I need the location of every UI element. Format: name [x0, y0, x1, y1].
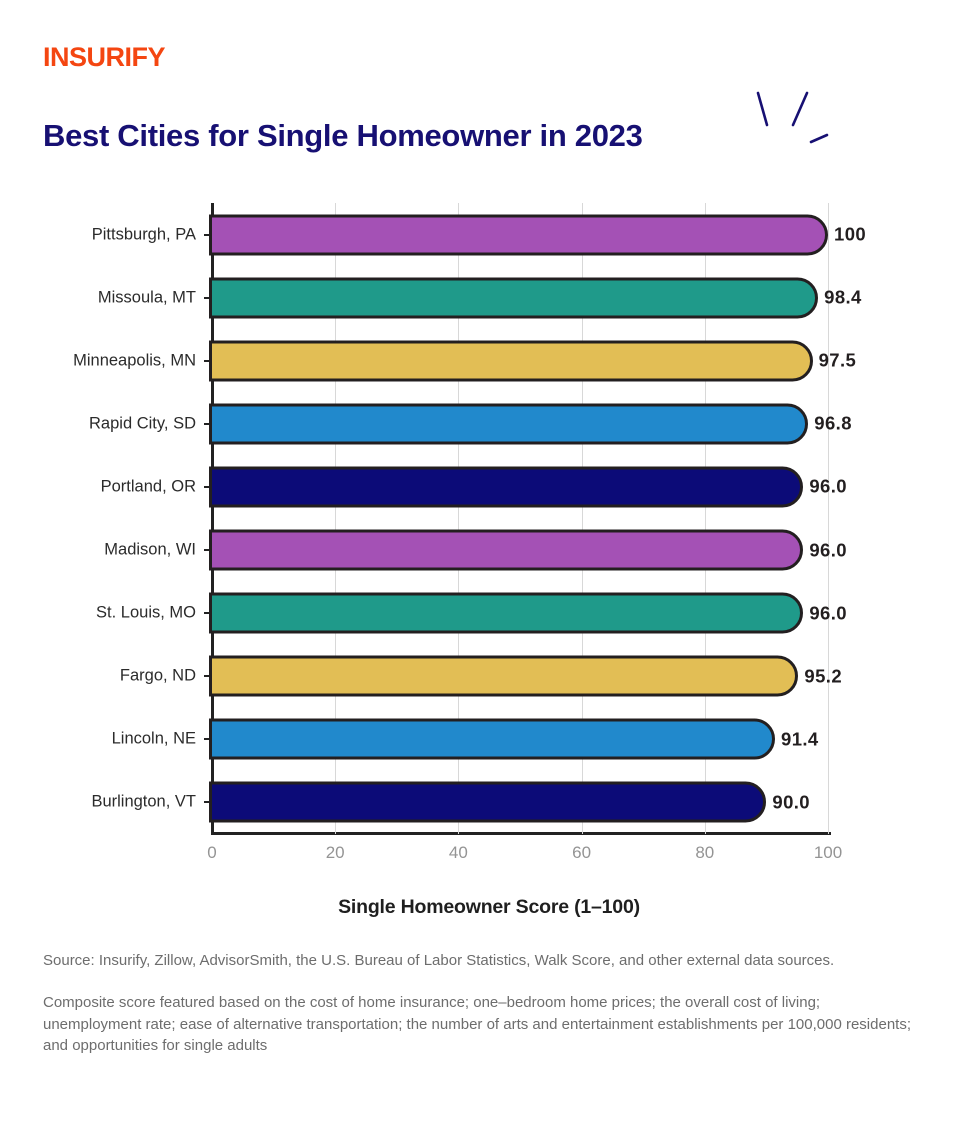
- x-tick-label: 40: [449, 843, 468, 863]
- bar[interactable]: 97.5: [209, 340, 813, 381]
- bar[interactable]: 96.0: [209, 466, 803, 507]
- x-tick-label: 60: [572, 843, 591, 863]
- x-tick-label: 80: [695, 843, 714, 863]
- bar-value-label: 96.0: [809, 476, 847, 498]
- methodology-note: Composite score featured based on the co…: [43, 992, 918, 1057]
- category-label: Madison, WI: [104, 541, 196, 560]
- bar-row: Burlington, VT90.0: [212, 771, 828, 834]
- category-label: Lincoln, NE: [112, 730, 196, 749]
- bar[interactable]: 96.0: [209, 530, 803, 571]
- bar-row: Fargo, ND95.2: [212, 645, 828, 708]
- bar[interactable]: 100: [209, 214, 828, 255]
- category-label: Fargo, ND: [120, 667, 196, 686]
- category-label: Burlington, VT: [91, 793, 196, 812]
- footnotes: Source: Insurify, Zillow, AdvisorSmith, …: [43, 950, 918, 1077]
- source-note: Source: Insurify, Zillow, AdvisorSmith, …: [43, 950, 918, 972]
- bar-row: Madison, WI96.0: [212, 519, 828, 582]
- bar-value-label: 90.0: [772, 791, 810, 813]
- bar-value-label: 100: [834, 224, 866, 246]
- bar-row: Rapid City, SD96.8: [212, 392, 828, 455]
- bar-value-label: 98.4: [824, 287, 862, 309]
- bar-value-label: 96.8: [814, 413, 852, 435]
- bar-value-label: 91.4: [781, 728, 819, 750]
- category-label: Pittsburgh, PA: [92, 225, 196, 244]
- category-label: St. Louis, MO: [96, 604, 196, 623]
- bar[interactable]: 91.4: [209, 719, 775, 760]
- bar-value-label: 95.2: [804, 665, 842, 687]
- x-tick-label: 20: [326, 843, 345, 863]
- category-label: Missoula, MT: [98, 288, 196, 307]
- bar[interactable]: 96.0: [209, 593, 803, 634]
- category-label: Minneapolis, MN: [73, 351, 196, 370]
- bar-row: Minneapolis, MN97.5: [212, 329, 828, 392]
- x-tick-label: 100: [814, 843, 842, 863]
- x-tick-label: 0: [207, 843, 216, 863]
- x-axis-title: Single Homeowner Score (1–100): [0, 896, 978, 919]
- bar[interactable]: 96.8: [209, 403, 808, 444]
- bar[interactable]: 90.0: [209, 782, 766, 823]
- category-label: Portland, OR: [101, 477, 196, 496]
- category-label: Rapid City, SD: [89, 414, 196, 433]
- bar[interactable]: 98.4: [209, 277, 818, 318]
- bar-row: Pittsburgh, PA100: [212, 203, 828, 266]
- bar-row: Missoula, MT98.4: [212, 266, 828, 329]
- bar-value-label: 96.0: [809, 539, 847, 561]
- bar-value-label: 97.5: [819, 350, 857, 372]
- bar-value-label: 96.0: [809, 602, 847, 624]
- bar-row: Lincoln, NE91.4: [212, 708, 828, 771]
- bar-row: St. Louis, MO96.0: [212, 582, 828, 645]
- bar[interactable]: 95.2: [209, 656, 798, 697]
- plot-area: Pittsburgh, PA100Missoula, MT98.4Minneap…: [212, 203, 828, 834]
- bar-row: Portland, OR96.0: [212, 455, 828, 518]
